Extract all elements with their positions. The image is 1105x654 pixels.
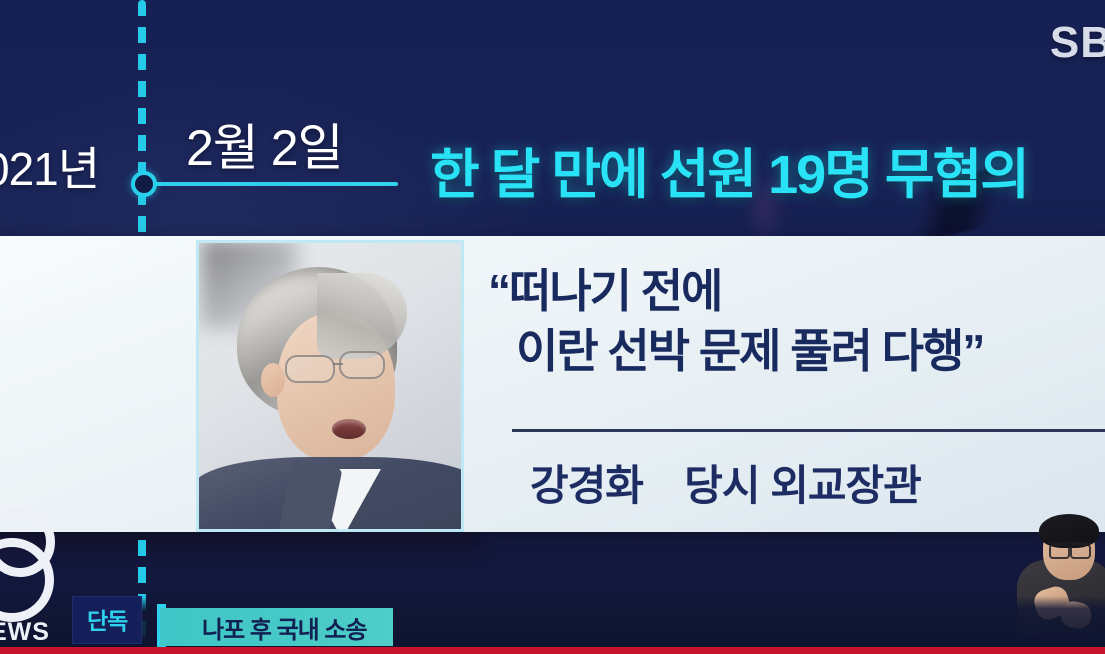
- lower-third-banner: 나포 후 국내 소송: [160, 608, 393, 646]
- portrait-ear: [261, 363, 285, 397]
- portrait-mouth: [332, 419, 366, 439]
- quote-text: “떠나기 전에 이란 선박 문제 풀려 다행”: [488, 262, 983, 382]
- portrait-glasses-bridge: [333, 363, 343, 365]
- lower-third-bar: EWS 단독 나포 후 국내 소송: [0, 596, 1105, 654]
- headline-text: 한 달 만에 선원 19명 무혐의: [430, 130, 1028, 209]
- sbs-news-wordmark: EWS: [0, 618, 50, 647]
- sbs-watermark: SB: [1050, 18, 1105, 68]
- portrait-glasses-right: [339, 351, 385, 379]
- timeline-connector-line: [155, 182, 398, 186]
- timeline-node-icon: [131, 171, 157, 197]
- attribution-name: 강경화: [530, 462, 643, 509]
- quote-attribution: 강경화 당시 외교장관: [530, 452, 921, 513]
- quote-line-1: “떠나기 전에: [488, 265, 721, 317]
- interpreter-glasses-icon: [1049, 542, 1091, 554]
- quote-line-2: 이란 선박 문제 풀려 다행”: [488, 322, 983, 382]
- timeline-date-label: 2월 2일: [186, 108, 343, 180]
- attribution-title: 당시 외교장관: [684, 462, 921, 509]
- exclusive-badge: 단독: [72, 596, 142, 644]
- quote-divider: [512, 429, 1105, 432]
- broadcast-screen: SB 021년 2월 2일 한 달 만에 선원 19명 무혐의 “떠나기 전에 …: [0, 0, 1105, 654]
- timeline-year-label: 021년: [0, 133, 99, 199]
- speaker-portrait-photo: [196, 240, 464, 532]
- bottom-red-strip: [0, 647, 1105, 654]
- portrait-glasses-left: [285, 355, 335, 383]
